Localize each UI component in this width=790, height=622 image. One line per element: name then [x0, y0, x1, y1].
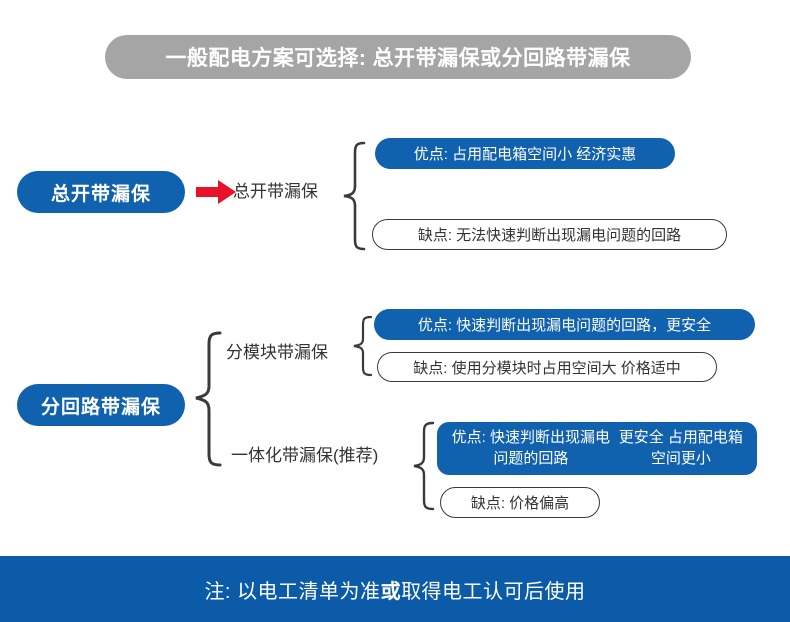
mid-node-module-label: 分模块带漏保: [226, 344, 328, 361]
leaf-con-module[interactable]: 缺点: 使用分模块时占用空间大 价格适中: [377, 352, 717, 382]
root-node-main-breaker-label: 总开带漏保: [51, 179, 151, 206]
root-node-circuit-breaker[interactable]: 分回路带漏保: [17, 384, 185, 426]
footer-note-emphasis: 或: [381, 581, 402, 603]
leaf-pro-integrated-line2: 更安全 占用配电箱空间更小: [615, 428, 747, 469]
mid-node-main-breaker-label: 总开带漏保: [233, 183, 318, 200]
footer-note-suffix: 取得电工认可后使用: [401, 581, 586, 603]
diagram-canvas: 一般配电方案可选择: 总开带漏保或分回路带漏保 总开带漏保 总开带漏保 优点: …: [0, 0, 790, 622]
curly-brace-icon: [351, 314, 373, 378]
root-node-circuit-breaker-label: 分回路带漏保: [41, 392, 161, 419]
footer-note-bar: 注: 以电工清单为准或取得电工认可后使用: [0, 556, 790, 622]
leaf-pro-integrated[interactable]: 优点: 快速判断出现漏电问题的回路 更安全 占用配电箱空间更小: [437, 422, 757, 475]
curly-brace-icon: [340, 140, 366, 252]
leaf-pro-main-breaker-label: 优点: 占用配电箱空间小 经济实惠: [414, 143, 637, 164]
footer-note-prefix: 注: 以电工清单为准: [204, 581, 380, 603]
leaf-con-integrated[interactable]: 缺点: 价格偏高: [440, 487, 600, 518]
curly-brace-icon: [192, 330, 222, 468]
root-node-main-breaker[interactable]: 总开带漏保: [17, 171, 185, 213]
leaf-pro-integrated-line1: 优点: 快速判断出现漏电问题的回路: [447, 428, 615, 469]
leaf-con-main-breaker-label: 缺点: 无法快速判断出现漏电问题的回路: [418, 224, 681, 245]
footer-note: 注: 以电工清单为准或取得电工认可后使用: [204, 575, 585, 604]
leaf-pro-module[interactable]: 优点: 快速判断出现漏电问题的回路，更安全: [374, 309, 755, 340]
curly-brace-icon: [411, 420, 435, 512]
page-title: 一般配电方案可选择: 总开带漏保或分回路带漏保: [165, 42, 630, 72]
leaf-pro-main-breaker[interactable]: 优点: 占用配电箱空间小 经济实惠: [375, 138, 675, 169]
leaf-con-module-label: 缺点: 使用分模块时占用空间大 价格适中: [413, 357, 681, 378]
right-arrow-icon: [196, 179, 236, 205]
mid-node-integrated-label: 一体化带漏保(推荐): [231, 447, 378, 464]
page-title-banner: 一般配电方案可选择: 总开带漏保或分回路带漏保: [105, 35, 691, 79]
leaf-pro-module-label: 优点: 快速判断出现漏电问题的回路，更安全: [418, 314, 711, 335]
leaf-con-integrated-label: 缺点: 价格偏高: [471, 492, 569, 513]
leaf-con-main-breaker[interactable]: 缺点: 无法快速判断出现漏电问题的回路: [372, 219, 727, 250]
